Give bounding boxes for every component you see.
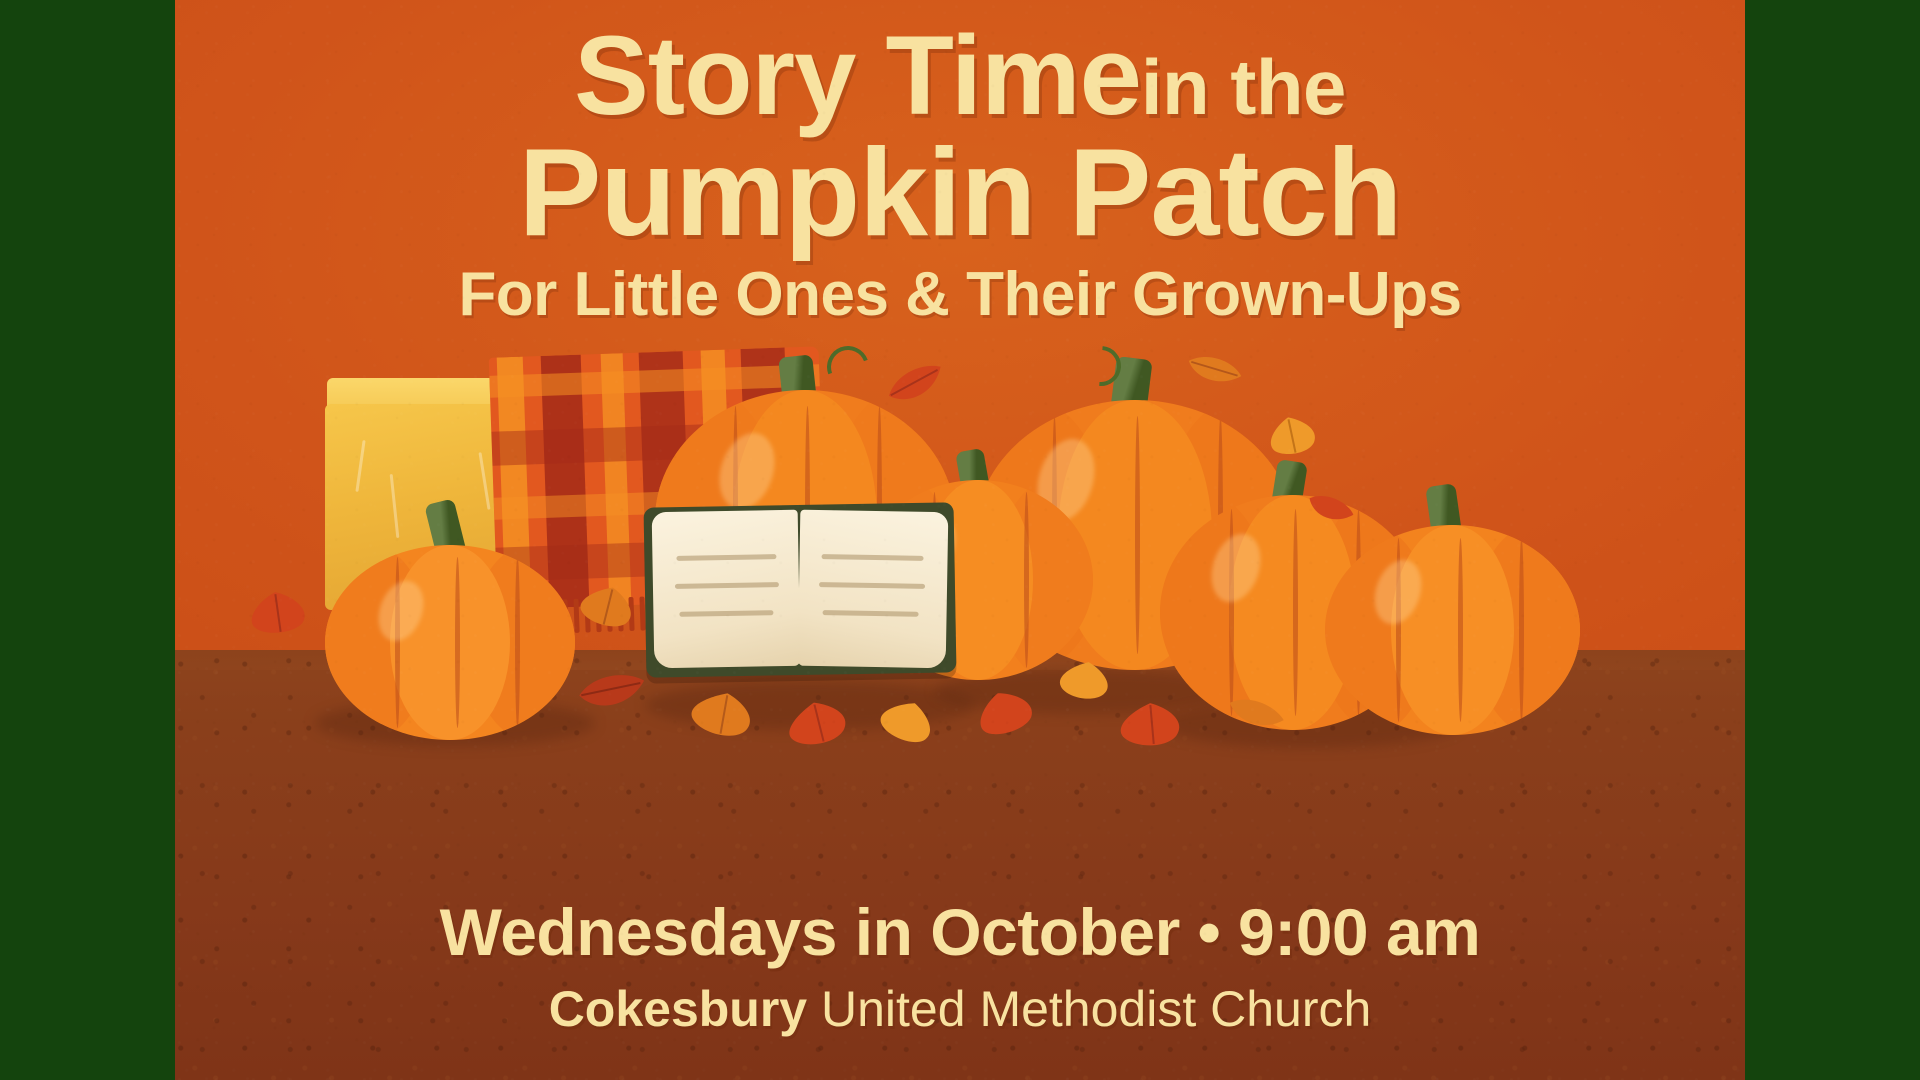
pumpkin-lobe bbox=[390, 545, 510, 740]
book-page-right bbox=[798, 510, 949, 669]
pumpkin-tendril bbox=[820, 339, 876, 395]
leaf-icon bbox=[573, 664, 651, 717]
headline-line-2: Pumpkin Patch bbox=[175, 134, 1745, 253]
leaf-icon bbox=[240, 585, 316, 640]
leaf-icon bbox=[1180, 343, 1248, 400]
book-text-line bbox=[819, 582, 925, 589]
frame-border-right bbox=[1745, 0, 1920, 1080]
pumpkin-lobe bbox=[1391, 525, 1513, 735]
flyer-slide: Story Timein the Pumpkin Patch For Littl… bbox=[0, 0, 1920, 1080]
headline-block: Story Timein the Pumpkin Patch For Littl… bbox=[175, 22, 1745, 330]
pumpkin-rib bbox=[1024, 492, 1029, 668]
pumpkin-body bbox=[1325, 525, 1580, 735]
pumpkin-rib bbox=[1293, 509, 1298, 716]
open-book bbox=[645, 505, 955, 675]
pumpkin-front-left bbox=[325, 545, 575, 740]
frame-border-left bbox=[0, 0, 175, 1080]
location-name: Cokesbury bbox=[549, 981, 807, 1037]
pumpkin-far-right bbox=[1325, 525, 1580, 735]
leaf-icon bbox=[1113, 697, 1191, 751]
book-page-left bbox=[652, 510, 801, 669]
pumpkin-rib bbox=[1135, 416, 1140, 654]
event-schedule: Wednesdays in October • 9:00 am bbox=[175, 894, 1745, 970]
pumpkin-rib bbox=[455, 557, 460, 729]
pumpkin-body bbox=[325, 545, 575, 740]
book-text-line bbox=[676, 554, 776, 561]
footer-block: Wednesdays in October • 9:00 am Cokesbur… bbox=[175, 894, 1745, 1038]
flyer-canvas: Story Timein the Pumpkin Patch For Littl… bbox=[175, 0, 1745, 1080]
headline-tail: in the bbox=[1141, 43, 1346, 131]
location-affiliation: United Methodist Church bbox=[807, 981, 1371, 1037]
book-text-line bbox=[675, 582, 779, 589]
headline-subtitle: For Little Ones & Their Grown-Ups bbox=[175, 259, 1745, 330]
book-text-line bbox=[822, 554, 924, 561]
book-text-line bbox=[679, 610, 773, 617]
headline-main: Story Time bbox=[574, 13, 1141, 138]
book-text-line bbox=[823, 610, 919, 617]
headline-line-1: Story Timein the bbox=[175, 22, 1745, 130]
pumpkin-rib bbox=[1458, 538, 1463, 723]
event-location: Cokesbury United Methodist Church bbox=[175, 980, 1745, 1038]
pumpkin-rib bbox=[515, 557, 520, 729]
leaf-icon bbox=[1052, 656, 1119, 706]
pumpkin-rib bbox=[1519, 538, 1524, 723]
